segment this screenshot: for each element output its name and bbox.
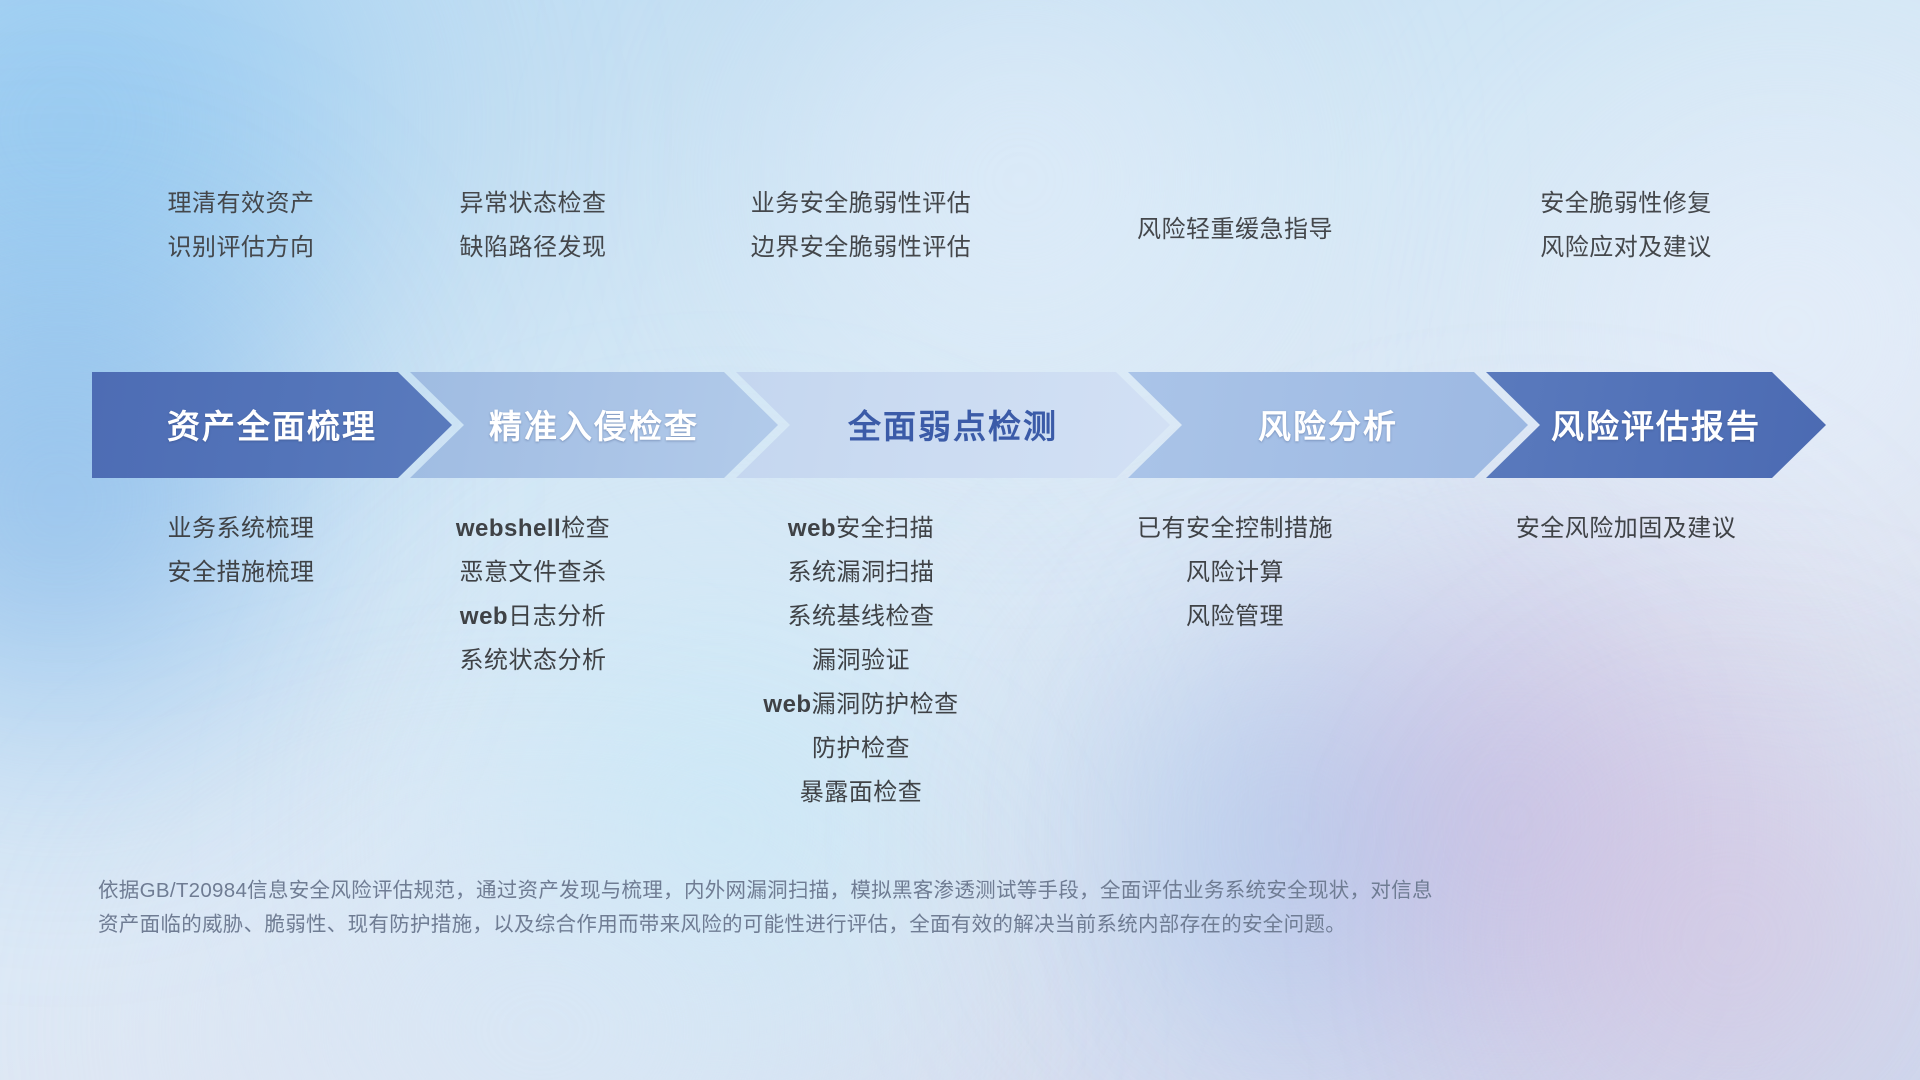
stage-label: 风险分析: [1258, 400, 1398, 448]
stage-chevron-risk-analysis[interactable]: 风险分析: [1128, 372, 1528, 478]
top-notes-risk-report: 安全脆弱性修复 风险应对及建议: [1424, 186, 1828, 296]
footer-line-1: 依据GB/T20984信息安全风险评估规范，通过资产发现与梳理，内外网漏洞扫描，…: [98, 874, 1618, 908]
list-item: 风险计算: [1186, 556, 1284, 600]
top-note: 缺陷路径发现: [460, 230, 607, 274]
stage-chevron-intrusion-check[interactable]: 精准入侵检查: [410, 372, 778, 478]
list-item: 系统漏洞扫描: [788, 556, 935, 600]
stage-chevron-weakness-detection[interactable]: 全面弱点检测: [736, 372, 1170, 478]
top-notes-asset-review: 理清有效资产 识别评估方向: [92, 186, 390, 296]
bottom-items-intrusion-check: webshell检查 恶意文件查杀 web日志分析 系统状态分析: [390, 512, 676, 688]
list-item: 风险管理: [1186, 600, 1284, 644]
footer-description: 依据GB/T20984信息安全风险评估规范，通过资产发现与梳理，内外网漏洞扫描，…: [98, 874, 1618, 942]
list-item: 安全风险加固及建议: [1516, 512, 1737, 556]
bottom-items-row: 业务系统梳理 安全措施梳理 webshell检查 恶意文件查杀 web日志分析 …: [92, 512, 1828, 820]
top-notes-intrusion-check: 异常状态检查 缺陷路径发现: [390, 186, 676, 296]
stage-label: 风险评估报告: [1551, 400, 1761, 448]
list-item: web漏洞防护检查: [763, 688, 958, 732]
list-item: webshell检查: [456, 512, 610, 556]
top-notes-weakness-detection: 业务安全脆弱性评估 边界安全脆弱性评估: [676, 186, 1046, 296]
top-note: 安全脆弱性修复: [1540, 186, 1712, 230]
top-note: 识别评估方向: [168, 230, 315, 274]
list-item: 暴露面检查: [800, 776, 923, 820]
list-item: web安全扫描: [788, 512, 934, 556]
list-item: 安全措施梳理: [168, 556, 315, 600]
stage-label: 全面弱点检测: [848, 400, 1058, 448]
top-note: 风险应对及建议: [1540, 230, 1712, 274]
bottom-items-weakness-detection: web安全扫描 系统漏洞扫描 系统基线检查 漏洞验证 web漏洞防护检查 防护检…: [676, 512, 1046, 820]
top-note: 风险轻重缓急指导: [1137, 212, 1333, 256]
top-note: 业务安全脆弱性评估: [751, 186, 972, 230]
stage-label: 精准入侵检查: [489, 400, 699, 448]
list-item: 系统基线检查: [788, 600, 935, 644]
stage-chevron-risk-report[interactable]: 风险评估报告: [1486, 372, 1826, 478]
list-item: 业务系统梳理: [168, 512, 315, 556]
list-item: web日志分析: [460, 600, 606, 644]
footer-line-2: 资产面临的威胁、脆弱性、现有防护措施，以及综合作用而带来风险的可能性进行评估，全…: [98, 908, 1618, 942]
list-item: 已有安全控制措施: [1137, 512, 1333, 556]
bottom-items-risk-analysis: 已有安全控制措施 风险计算 风险管理: [1046, 512, 1424, 644]
stage-label: 资产全面梳理: [167, 400, 377, 448]
top-notes-risk-analysis: 风险轻重缓急指导: [1046, 186, 1424, 296]
list-item: 漏洞验证: [812, 644, 910, 688]
top-note: 理清有效资产: [168, 186, 315, 230]
list-item: 防护检查: [812, 732, 910, 776]
top-notes-row: 理清有效资产 识别评估方向 异常状态检查 缺陷路径发现 业务安全脆弱性评估 边界…: [92, 186, 1828, 296]
process-chevron-band: 资产全面梳理 精准入侵检查 全面弱点检测 风险分析 风险评估报告: [92, 372, 1826, 478]
top-note: 异常状态检查: [460, 186, 607, 230]
process-diagram: 理清有效资产 识别评估方向 异常状态检查 缺陷路径发现 业务安全脆弱性评估 边界…: [0, 0, 1920, 1080]
bottom-items-risk-report: 安全风险加固及建议: [1424, 512, 1828, 556]
list-item: 系统状态分析: [460, 644, 607, 688]
stage-chevron-asset-review[interactable]: 资产全面梳理: [92, 372, 452, 478]
list-item: 恶意文件查杀: [460, 556, 607, 600]
bottom-items-asset-review: 业务系统梳理 安全措施梳理: [92, 512, 390, 600]
top-note: 边界安全脆弱性评估: [751, 230, 972, 274]
